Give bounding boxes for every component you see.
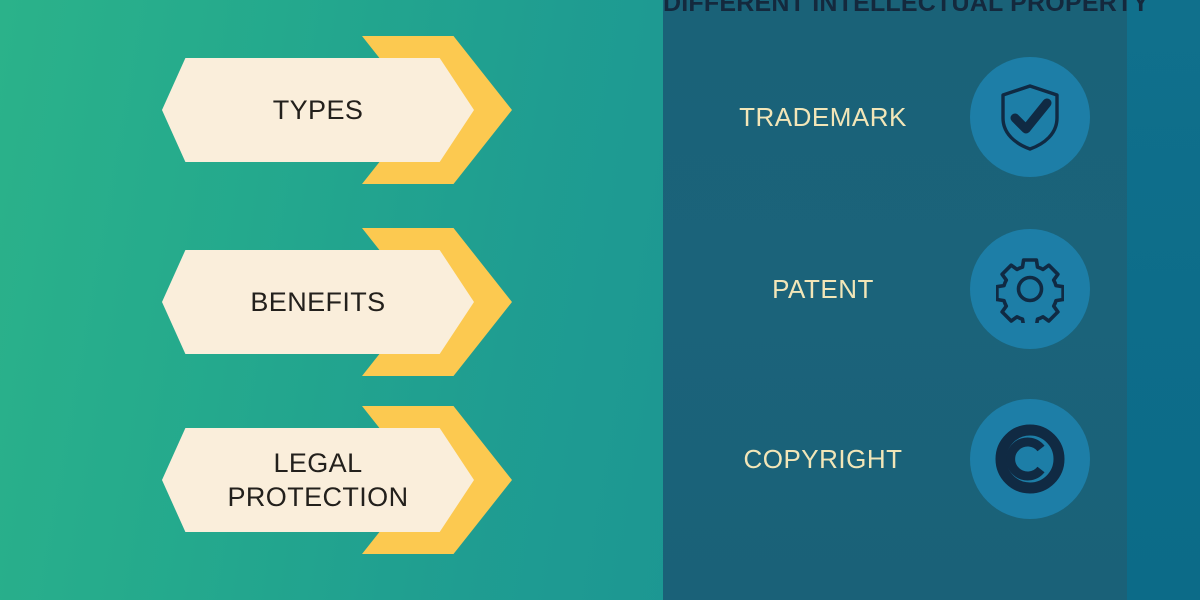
shield-check-icon — [997, 82, 1063, 152]
ip-type-row-patent[interactable]: PATENT — [690, 226, 1090, 352]
step-banner-benefits[interactable]: BENEFITS — [162, 222, 512, 382]
step-banner-body — [162, 428, 474, 532]
ip-type-row-trademark[interactable]: TRADEMARK — [690, 54, 1090, 180]
step-banner-body — [162, 58, 474, 162]
ip-icon-badge — [970, 57, 1090, 177]
step-banner-body — [162, 250, 474, 354]
ip-icon-badge — [970, 399, 1090, 519]
panel-right-edge — [1127, 0, 1200, 600]
ip-type-label: TRADEMARK — [690, 102, 970, 133]
step-banner-types[interactable]: TYPES — [162, 30, 512, 190]
ip-type-row-copyright[interactable]: COPYRIGHT — [690, 396, 1090, 522]
gear-icon — [996, 255, 1064, 323]
ip-icon-badge — [970, 229, 1090, 349]
copyright-icon — [994, 423, 1066, 495]
ip-type-label: PATENT — [690, 274, 970, 305]
step-banner-legal-protection[interactable]: LEGAL PROTECTION — [162, 400, 512, 560]
page-title: DIFFERENT INTELLECTUAL PROPERTY — [663, 0, 1127, 20]
ip-type-label: COPYRIGHT — [690, 444, 970, 475]
infographic-canvas: DIFFERENT INTELLECTUAL PROPERTY TYPES BE… — [0, 0, 1200, 600]
